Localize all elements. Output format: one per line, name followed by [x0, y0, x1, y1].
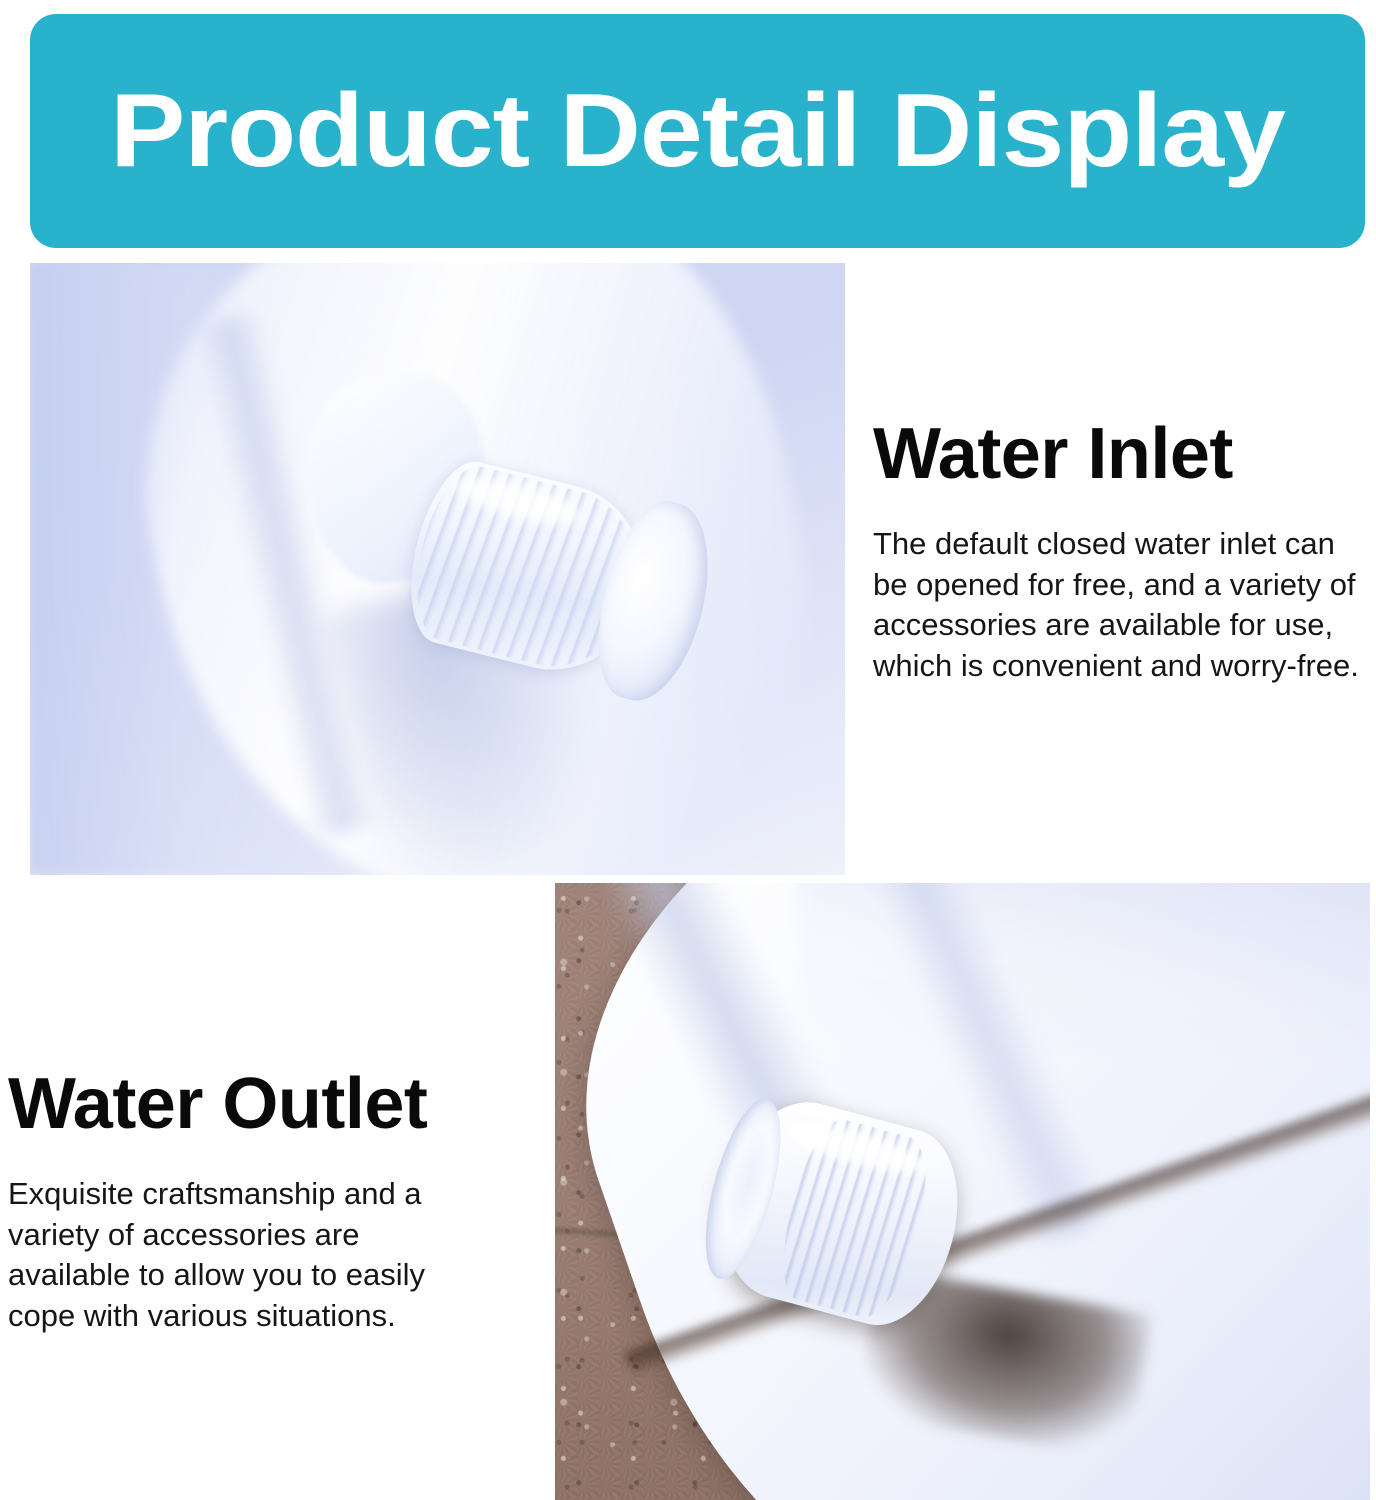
water-inlet-heading: Water Inlet	[873, 418, 1373, 490]
water-outlet-photo	[555, 883, 1370, 1500]
page-title: Product Detail Display	[110, 79, 1285, 183]
water-inlet-photo	[30, 263, 845, 875]
water-inlet-text-block: Water Inlet The default closed water inl…	[873, 418, 1373, 686]
water-outlet-description: Exquisite craftsmanship and a variety of…	[8, 1174, 478, 1336]
water-outlet-heading: Water Outlet	[8, 1068, 478, 1140]
water-inlet-description: The default closed water inlet can be op…	[873, 524, 1373, 686]
header-banner: Product Detail Display	[30, 14, 1365, 248]
water-outlet-text-block: Water Outlet Exquisite craftsmanship and…	[8, 1068, 478, 1336]
